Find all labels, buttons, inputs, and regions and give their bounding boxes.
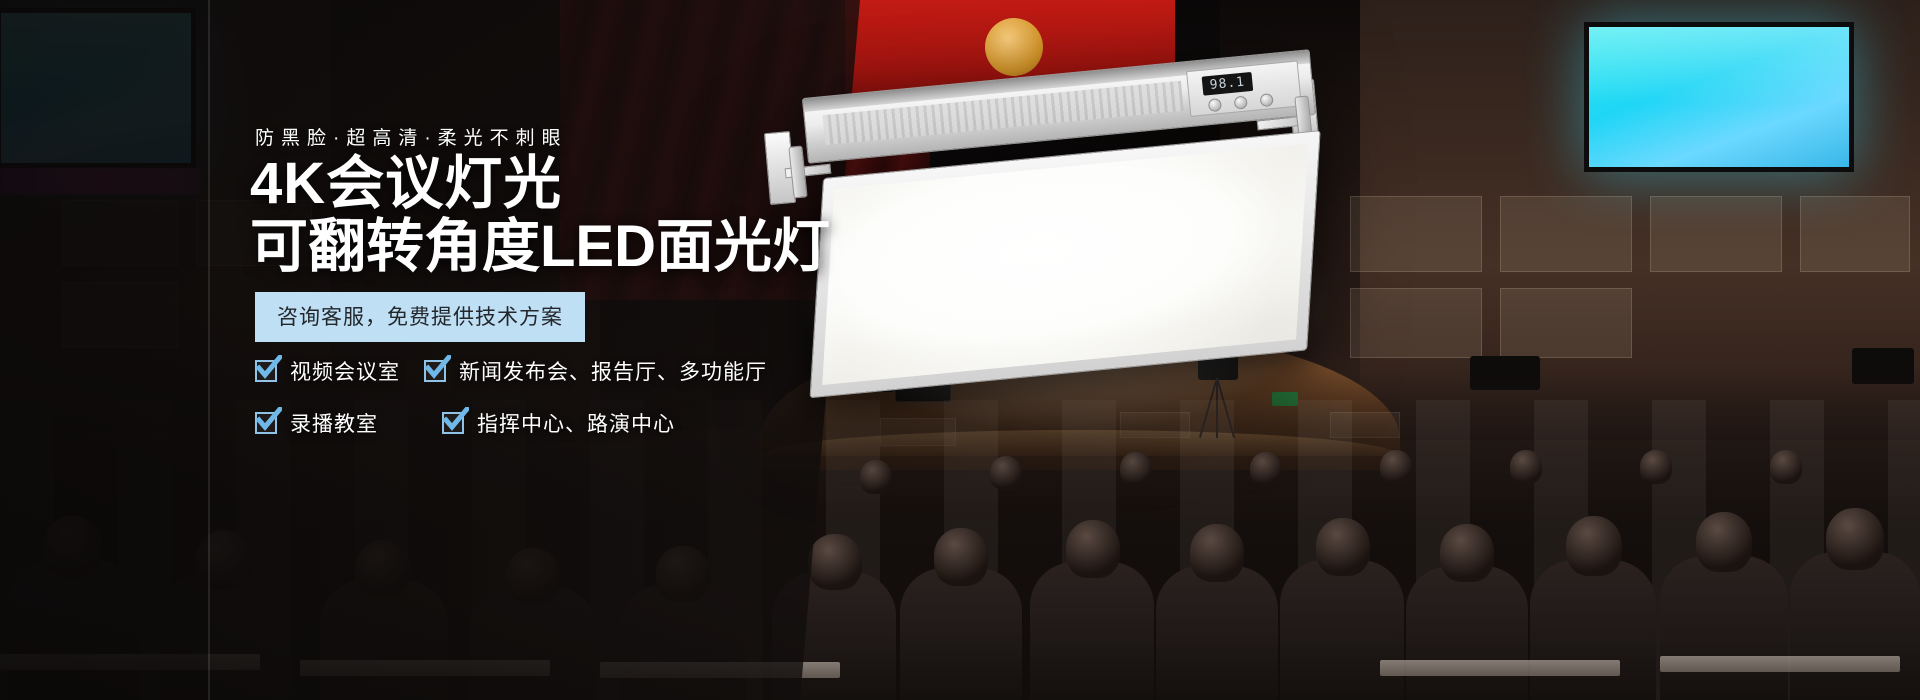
audience-person [1770, 450, 1802, 484]
feature-row: 视频会议室 新闻发布会、报告厅、多功能厅 [255, 356, 815, 386]
control-knob[interactable] [1260, 93, 1274, 107]
audience-person [1190, 524, 1244, 582]
audience-person [1566, 516, 1622, 576]
wall-panel [1800, 196, 1910, 272]
headline-line-1: 4K会议灯光 [250, 152, 890, 215]
wall-panel [1500, 196, 1632, 272]
feature-list: 视频会议室 新闻发布会、报告厅、多功能厅 [255, 356, 815, 460]
hero-banner: 98.1 防黑脸·超高清·柔光不刺眼 4K会议灯光 可翻转角度LED面光灯 咨询… [0, 0, 1920, 700]
control-knob[interactable] [1208, 98, 1222, 112]
audience-person [1696, 512, 1752, 572]
wall-panel [1500, 288, 1632, 358]
audience-person [1510, 450, 1542, 484]
feature-row: 录播教室 指挥中心、路演中心 [255, 408, 815, 438]
audience-person [934, 528, 988, 586]
led-screen-right [1584, 22, 1854, 172]
feature-item-recording-classroom[interactable]: 录播教室 [255, 408, 378, 438]
feature-label: 指挥中心、路演中心 [477, 408, 675, 438]
audience-person [1406, 566, 1528, 700]
audience-person [1380, 450, 1412, 484]
audience-person [1826, 508, 1884, 570]
eyebrow-tagline: 防黑脸·超高清·柔光不刺眼 [255, 123, 568, 150]
audience-desk [1380, 660, 1620, 676]
audience-person [1660, 556, 1788, 700]
audience-person [1066, 520, 1120, 578]
audience-person [1790, 552, 1920, 700]
headline-line-2: 可翻转角度LED面光灯 [250, 215, 890, 278]
audience-person [1030, 562, 1154, 700]
screen-glare [1589, 27, 1849, 167]
feature-item-press-conference[interactable]: 新闻发布会、报告厅、多功能厅 [424, 356, 767, 386]
overlay-left-strip [0, 0, 208, 700]
checkbox-checked-icon [255, 360, 277, 382]
checkbox-checked-icon [424, 360, 446, 382]
audience-desk [1660, 656, 1900, 672]
overlay-divider [208, 0, 210, 700]
audience-person [1440, 524, 1494, 582]
feature-label: 新闻发布会、报告厅、多功能厅 [459, 356, 767, 386]
wall-panel [1350, 288, 1482, 358]
audience-person [1156, 566, 1278, 700]
wall-panel [1350, 196, 1482, 272]
audience-person [900, 568, 1022, 700]
control-knob[interactable] [1234, 96, 1248, 110]
banner-content: 防黑脸·超高清·柔光不刺眼 4K会议灯光 可翻转角度LED面光灯 咨询客服，免费… [250, 0, 850, 700]
feature-item-video-conference-room[interactable]: 视频会议室 [255, 356, 400, 386]
digital-display: 98.1 [1202, 72, 1254, 96]
contact-support-button[interactable]: 咨询客服，免费提供技术方案 [255, 292, 585, 342]
checkbox-checked-icon [442, 412, 464, 434]
feature-item-command-center[interactable]: 指挥中心、路演中心 [442, 408, 675, 438]
audience-person [1640, 450, 1672, 484]
feature-label: 录播教室 [290, 408, 378, 438]
checkbox-checked-icon [255, 412, 277, 434]
feature-label: 视频会议室 [290, 356, 400, 386]
page-title: 4K会议灯光 可翻转角度LED面光灯 [250, 152, 890, 278]
audience-person [1530, 560, 1656, 700]
control-panel[interactable]: 98.1 [1186, 60, 1302, 117]
diffuser-surface [822, 143, 1308, 385]
audience-person [1316, 518, 1370, 576]
audience-person [1280, 560, 1404, 700]
wall-panel [1650, 196, 1782, 272]
gold-emblem-icon [985, 18, 1043, 76]
